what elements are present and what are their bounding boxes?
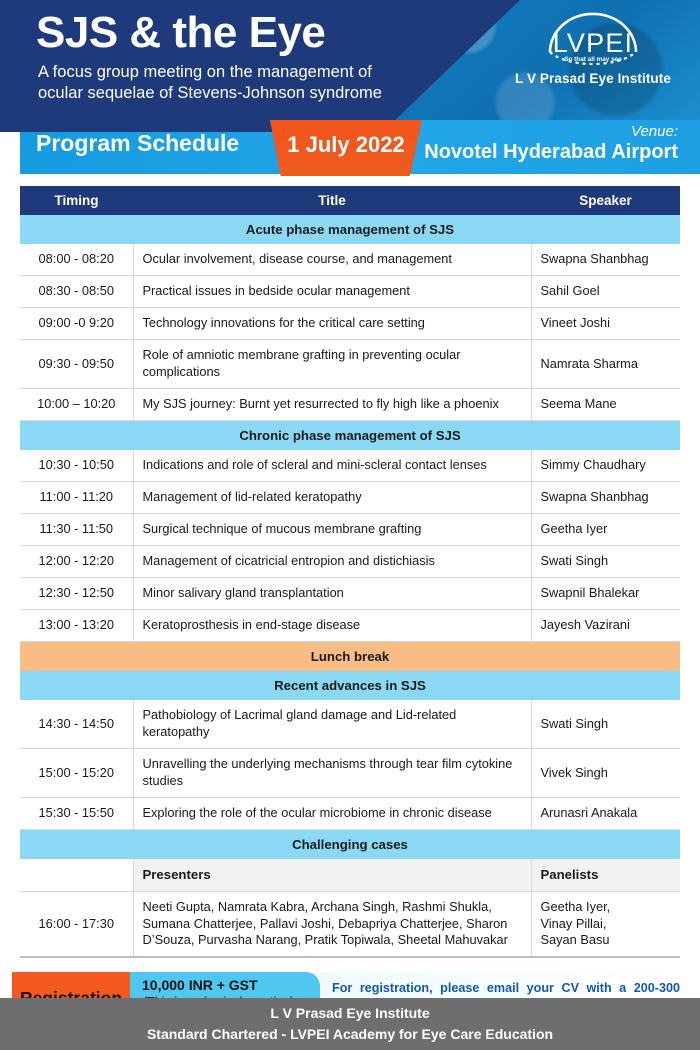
poster-root: SJS & the Eye A focus group meeting on t… [0, 0, 700, 1050]
table-header: Timing Title Speaker [20, 186, 680, 215]
cell-timing: 10:00 – 10:20 [20, 388, 133, 420]
cell-speaker: Sahil Goel [531, 276, 680, 308]
table-row: 13:00 - 13:20Keratoprosthesis in end-sta… [20, 609, 680, 641]
page-title: SJS & the Eye [36, 10, 325, 56]
challenging-cases-row: 16:00 - 17:30Neeti Gupta, Namrata Kabra,… [20, 891, 680, 957]
program-schedule-label: Program Schedule [36, 130, 239, 157]
section-band-label: Acute phase management of SJS [20, 215, 680, 244]
cell-title: Surgical technique of mucous membrane gr… [133, 513, 531, 545]
registration-fee-amount: 10,000 INR + GST [142, 977, 310, 995]
cell-title: Role of amniotic membrane grafting in pr… [133, 340, 531, 389]
cell-speaker: Swapna Shanbhag [531, 482, 680, 514]
section-band-challenging: Challenging cases [20, 829, 680, 859]
challenging-subheader-panelists: Panelists [531, 859, 680, 891]
challenging-subheader-blank [20, 859, 133, 891]
cell-title: Pathobiology of Lacrimal gland damage an… [133, 700, 531, 748]
cell-timing: 15:00 - 15:20 [20, 749, 133, 798]
cell-title: Unravelling the underlying mechanisms th… [133, 749, 531, 798]
cell-speaker: Vivek Singh [531, 749, 680, 798]
table-row: 08:30 - 08:50Practical issues in bedside… [20, 276, 680, 308]
lvpei-logo: LVPEI So that all may see L V Prasad Eye… [498, 8, 688, 86]
cell-speaker: Geetha Iyer [531, 513, 680, 545]
challenging-subheader-row: PresentersPanelists [20, 859, 680, 891]
cell-title: Keratoprosthesis in end-stage disease [133, 609, 531, 641]
cell-title: Technology innovations for the critical … [133, 308, 531, 340]
cell-title: Indications and role of scleral and mini… [133, 450, 531, 481]
logo-institute-name: L V Prasad Eye Institute [498, 71, 688, 86]
eye-circle-icon: LVPEI So that all may see [498, 8, 688, 70]
section-band: Acute phase management of SJS [20, 215, 680, 244]
cell-panelists: Geetha Iyer, Vinay Pillai, Sayan Basu [531, 891, 680, 957]
section-band-label: Recent advances in SJS [20, 671, 680, 700]
cell-speaker: Simmy Chaudhary [531, 450, 680, 481]
cell-timing: 09:00 -0 9:20 [20, 308, 133, 340]
table-row: 08:00 - 08:20Ocular involvement, disease… [20, 244, 680, 275]
cell-timing: 14:30 - 14:50 [20, 700, 133, 748]
section-band-lunch: Lunch break [20, 641, 680, 671]
cell-speaker: Swati Singh [531, 545, 680, 577]
table-row: 15:30 - 15:50Exploring the role of the o… [20, 797, 680, 829]
table-row: 12:30 - 12:50Minor salivary gland transp… [20, 577, 680, 609]
table-row: 09:30 - 09:50Role of amniotic membrane g… [20, 340, 680, 389]
banner-subtitle-line1: A focus group meeting on the management … [38, 62, 382, 83]
cell-title: Management of cicatricial entropion and … [133, 545, 531, 577]
banner-subtitle: A focus group meeting on the management … [38, 62, 382, 104]
table-row: 11:00 - 11:20Management of lid-related k… [20, 482, 680, 514]
banner: SJS & the Eye A focus group meeting on t… [0, 0, 700, 120]
section-band-challenging-label: Challenging cases [20, 829, 680, 859]
section-band-lunch-label: Lunch break [20, 641, 680, 671]
venue-label: Venue: [338, 123, 678, 140]
cell-timing: 15:30 - 15:50 [20, 797, 133, 829]
table-header-row: Timing Title Speaker [20, 186, 680, 215]
cell-speaker: Swapna Shanbhag [531, 244, 680, 275]
cell-timing: 08:00 - 08:20 [20, 244, 133, 275]
cell-title: Practical issues in bedside ocular manag… [133, 276, 531, 308]
cell-speaker: Namrata Sharma [531, 340, 680, 389]
table-row: 15:00 - 15:20Unravelling the underlying … [20, 749, 680, 798]
cell-title: Management of lid-related keratopathy [133, 482, 531, 514]
cell-timing: 13:00 - 13:20 [20, 609, 133, 641]
table-row: 09:00 -0 9:20Technology innovations for … [20, 308, 680, 340]
cell-title: Minor salivary gland transplantation [133, 577, 531, 609]
cell-timing: 11:30 - 11:50 [20, 513, 133, 545]
cell-speaker: Swapnil Bhalekar [531, 577, 680, 609]
section-band: Recent advances in SJS [20, 671, 680, 700]
cell-speaker: Swati Singh [531, 700, 680, 748]
table-body: Acute phase management of SJS08:00 - 08:… [20, 215, 680, 957]
column-header-timing: Timing [20, 186, 133, 215]
cell-timing: 10:30 - 10:50 [20, 450, 133, 481]
svg-text:So that all may see: So that all may see [564, 56, 622, 63]
table-row: 11:30 - 11:50Surgical technique of mucou… [20, 513, 680, 545]
cell-timing: 16:00 - 17:30 [20, 891, 133, 957]
section-band: Chronic phase management of SJS [20, 420, 680, 450]
cell-timing: 08:30 - 08:50 [20, 276, 133, 308]
cell-title: My SJS journey: Burnt yet resurrected to… [133, 388, 531, 420]
footer-academy: Standard Chartered - LVPEI Academy for E… [147, 1024, 553, 1045]
svg-text:LVPEI: LVPEI [553, 28, 634, 58]
program-strip: Program Schedule 1 July 2022 Venue: Novo… [0, 120, 700, 182]
cell-title: Ocular involvement, disease course, and … [133, 244, 531, 275]
challenging-subheader-presenters: Presenters [133, 859, 531, 891]
cell-speaker: Vineet Joshi [531, 308, 680, 340]
table-row: 10:00 – 10:20My SJS journey: Burnt yet r… [20, 388, 680, 420]
column-header-title: Title [133, 186, 531, 215]
cell-presenters: Neeti Gupta, Namrata Kabra, Archana Sing… [133, 891, 531, 957]
cell-timing: 12:00 - 12:20 [20, 545, 133, 577]
venue-value: Novotel Hyderabad Airport [258, 141, 678, 164]
footer-institute: L V Prasad Eye Institute [270, 1003, 429, 1024]
table-row: 14:30 - 14:50Pathobiology of Lacrimal gl… [20, 700, 680, 748]
schedule-table: Timing Title Speaker Acute phase managem… [20, 186, 680, 958]
cell-timing: 11:00 - 11:20 [20, 482, 133, 514]
footer: L V Prasad Eye Institute Standard Charte… [0, 998, 700, 1050]
table-row: 10:30 - 10:50Indications and role of scl… [20, 450, 680, 481]
banner-subtitle-line2: ocular sequelae of Stevens-Johnson syndr… [38, 83, 382, 104]
cell-timing: 09:30 - 09:50 [20, 340, 133, 389]
cell-title: Exploring the role of the ocular microbi… [133, 797, 531, 829]
column-header-speaker: Speaker [531, 186, 680, 215]
cell-timing: 12:30 - 12:50 [20, 577, 133, 609]
schedule-table-wrapper: Timing Title Speaker Acute phase managem… [20, 186, 680, 958]
cell-speaker: Jayesh Vazirani [531, 609, 680, 641]
cell-speaker: Seema Mane [531, 388, 680, 420]
cell-speaker: Arunasri Anakala [531, 797, 680, 829]
table-row: 12:00 - 12:20Management of cicatricial e… [20, 545, 680, 577]
section-band-label: Chronic phase management of SJS [20, 420, 680, 450]
